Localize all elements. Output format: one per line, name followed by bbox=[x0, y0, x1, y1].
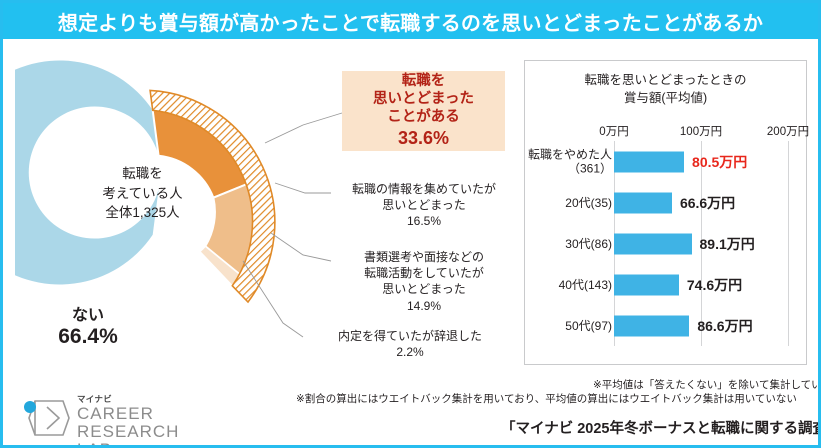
donut-center-line3: 全体1,325人 bbox=[75, 203, 210, 223]
callout-2-value: 16.5% bbox=[331, 213, 517, 229]
bar bbox=[614, 315, 689, 336]
donut-label-nai-value: 66.4% bbox=[33, 325, 143, 349]
bar bbox=[614, 151, 684, 172]
axis-tick-label: 0万円 bbox=[599, 123, 628, 139]
bar-row: 転職をやめた人（361）80.5万円 bbox=[525, 141, 806, 182]
bar-category-label: 転職をやめた人（361） bbox=[504, 147, 612, 176]
callout-3-line3: 思いとどまった bbox=[331, 281, 517, 297]
bar-row: 30代(86)89.1万円 bbox=[525, 223, 806, 264]
note-average: ※平均値は「答えたくない」を除いて集計している bbox=[593, 377, 821, 392]
callout-highlight-line2: 思いとどまった bbox=[373, 90, 474, 108]
logo-lab-row: LAB キャリアリサーチLab bbox=[77, 441, 249, 448]
panel-title-line2: 賞与額(平均値) bbox=[525, 89, 806, 107]
callout-3-line2: 転職活動をしていたが bbox=[331, 265, 517, 281]
donut-label-nai: ない 66.4% bbox=[33, 307, 143, 350]
bar-category-label: 20代(35) bbox=[504, 195, 612, 209]
bar-category-label: 40代(143) bbox=[504, 277, 612, 291]
bar-row: 40代(143)74.6万円 bbox=[525, 264, 806, 305]
axis-tick-label: 200万円 bbox=[767, 123, 809, 139]
bar-chart-plot: 転職をやめた人（361）80.5万円20代(35)66.6万円30代(86)89… bbox=[525, 141, 806, 356]
callout-highlight-line1: 転職を bbox=[402, 72, 446, 90]
bar-row: 50代(97)86.6万円 bbox=[525, 305, 806, 346]
donut-center-label: 転職を 考えている人 全体1,325人 bbox=[75, 164, 210, 223]
callout-info-gathering: 転職の情報を集めていたが 思いとどまった 16.5% bbox=[331, 181, 517, 230]
bar bbox=[614, 192, 672, 213]
logo-jp-text: キャリアリサーチLab bbox=[119, 444, 207, 448]
note-weighting: ※割合の算出にはウエイトバック集計を用いており、平均値の算出にはウエイトバック集… bbox=[296, 391, 797, 406]
bar-category-label: 30代(86) bbox=[504, 236, 612, 250]
logo-career-research-text: CAREER RESEARCH bbox=[77, 405, 249, 441]
callout-4-line1: 内定を得ていたが辞退した bbox=[303, 328, 517, 344]
source-label: 「マイナビ 2025年冬ボーナスと転職に関する調査」 bbox=[501, 417, 811, 438]
bar-value-label: 89.1万円 bbox=[700, 234, 755, 254]
callout-4-value: 2.2% bbox=[303, 344, 517, 360]
logo-text: マイナビ CAREER RESEARCH LAB キャリアリサーチLab bbox=[77, 395, 249, 448]
bonus-average-panel: 転職を思いとどまったときの 賞与額(平均値) 0万円100万円200万円 転職を… bbox=[524, 60, 807, 365]
logo-lab-text: LAB bbox=[77, 441, 112, 448]
callout-2-line1: 転職の情報を集めていたが bbox=[331, 181, 517, 197]
callout-3-line1: 書類選考や面接などの bbox=[331, 249, 517, 265]
bar bbox=[614, 233, 692, 254]
donut-center-line2: 考えている人 bbox=[75, 184, 210, 204]
callout-highlight-value: 33.6% bbox=[398, 127, 449, 150]
logo-mynavi-text: マイナビ bbox=[77, 395, 249, 404]
callout-highlight: 転職を 思いとどまった ことがある 33.6% bbox=[342, 71, 505, 151]
bar-row: 20代(35)66.6万円 bbox=[525, 182, 806, 223]
bar bbox=[614, 274, 679, 295]
bar-value-label: 66.6万円 bbox=[680, 193, 735, 213]
panel-title: 転職を思いとどまったときの 賞与額(平均値) bbox=[525, 71, 806, 107]
callout-job-hunting: 書類選考や面接などの 転職活動をしていたが 思いとどまった 14.9% bbox=[331, 249, 517, 314]
callout-3-value: 14.9% bbox=[331, 298, 517, 314]
callout-2-line2: 思いとどまった bbox=[331, 197, 517, 213]
page-title: 想定よりも賞与額が高かったことで転職するのを思いとどまったことがあるか bbox=[58, 7, 763, 36]
bar-value-label: 80.5万円 bbox=[692, 152, 747, 172]
bar-category-label: 50代(97) bbox=[504, 318, 612, 332]
donut-center-line1: 転職を bbox=[75, 164, 210, 184]
callout-offer-declined: 内定を得ていたが辞退した 2.2% bbox=[303, 328, 517, 360]
bar-value-label: 86.6万円 bbox=[697, 316, 752, 336]
panel-title-line1: 転職を思いとどまったときの bbox=[525, 71, 806, 89]
infographic-page: 想定よりも賞与額が高かったことで転職するのを思いとどまったことがあるか 転職を bbox=[0, 0, 821, 448]
mynavi-career-research-lab-logo[interactable]: マイナビ CAREER RESEARCH LAB キャリアリサーチLab bbox=[19, 395, 249, 441]
bar-chart-axis-labels: 0万円100万円200万円 bbox=[525, 123, 806, 139]
donut-chart: 転職を 考えている人 全体1,325人 ない 66.4% bbox=[15, 49, 315, 379]
axis-tick-label: 100万円 bbox=[680, 123, 722, 139]
callout-highlight-line3: ことがある bbox=[387, 108, 460, 126]
logo-mark-icon bbox=[19, 397, 71, 439]
donut-label-nai-text: ない bbox=[33, 307, 143, 325]
bar-value-label: 74.6万円 bbox=[687, 275, 742, 295]
page-title-banner: 想定よりも賞与額が高かったことで転職するのを思いとどまったことがあるか bbox=[3, 3, 818, 39]
